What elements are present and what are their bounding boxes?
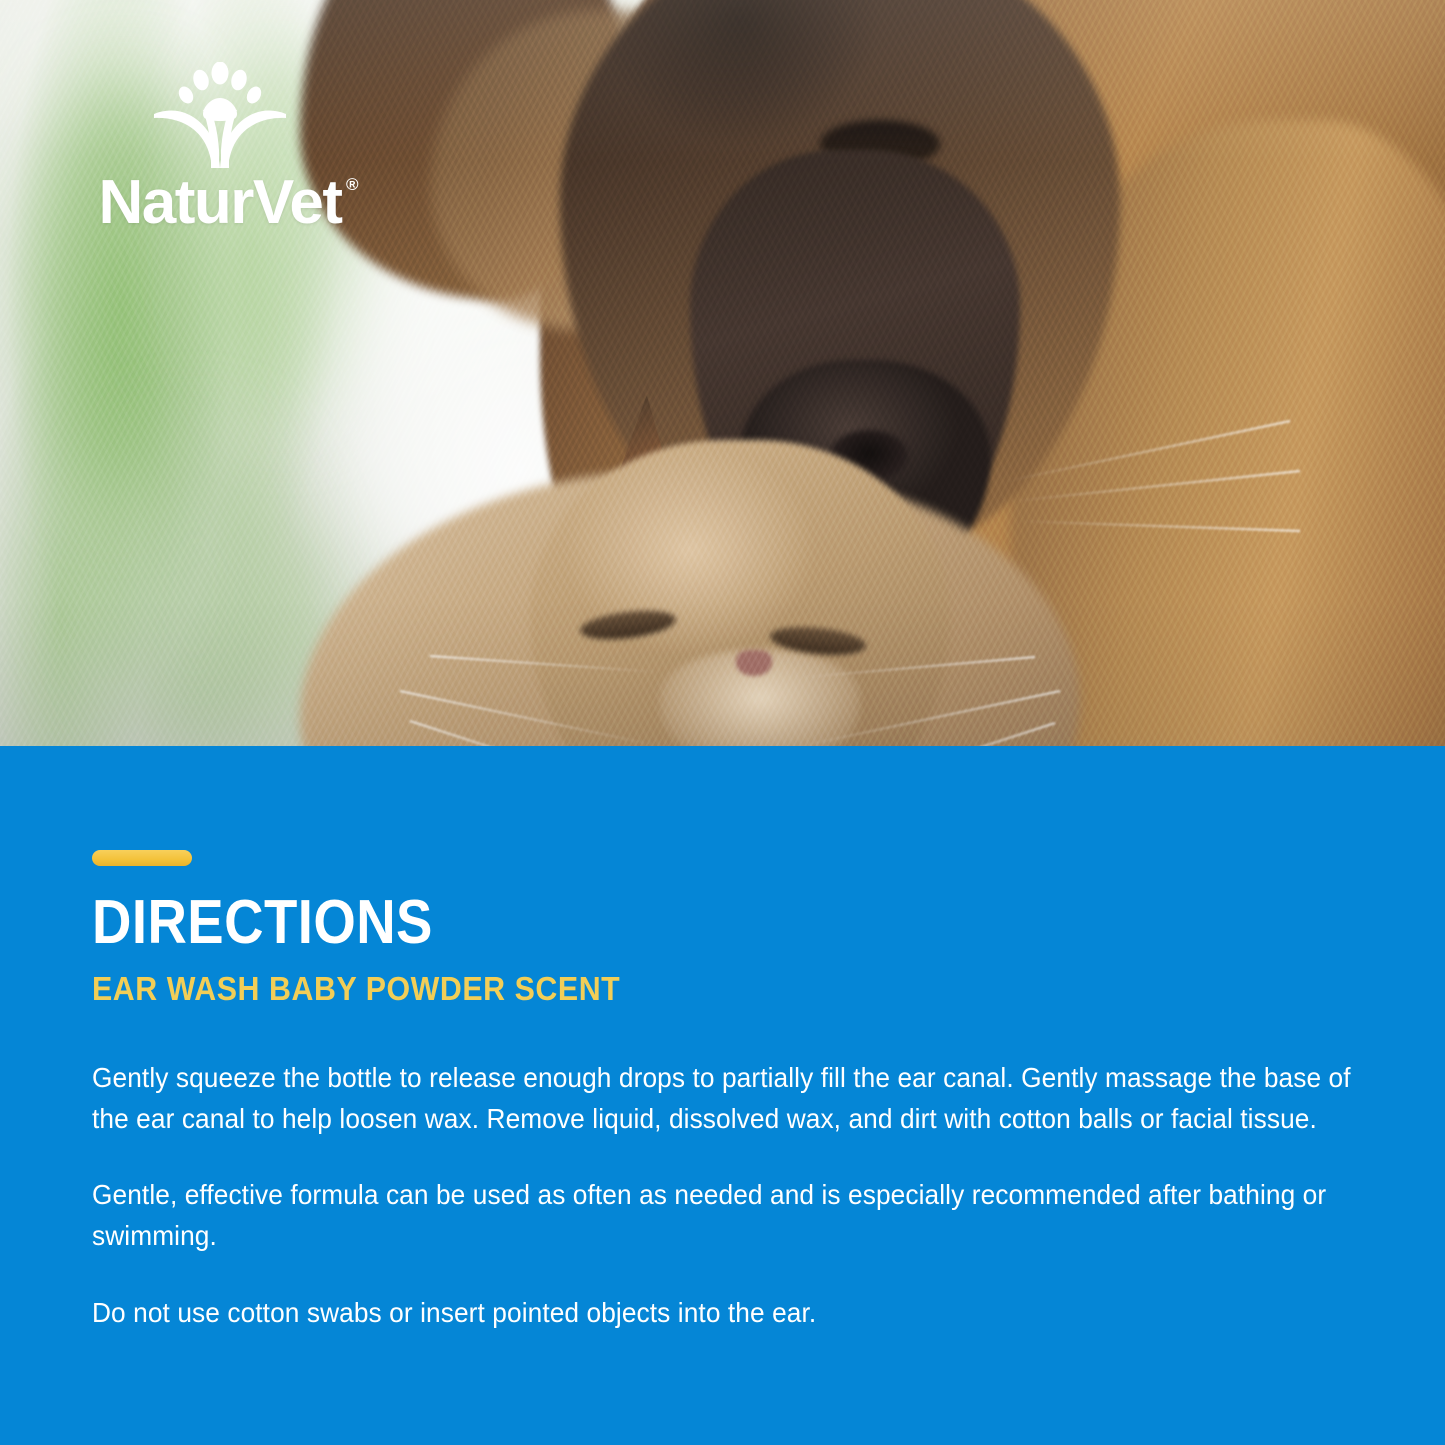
registered-trademark-icon: ® bbox=[346, 176, 359, 193]
directions-section: DIRECTIONS EAR WASH BABY POWDER SCENT Ge… bbox=[0, 746, 1445, 1445]
paw-over-grass-icon bbox=[152, 62, 288, 168]
hero-photo-banner: NaturVet ® bbox=[0, 0, 1445, 746]
naturvet-logo[interactable]: NaturVet ® bbox=[60, 62, 380, 242]
directions-body: Gently squeeze the bottle to release eno… bbox=[92, 1058, 1364, 1333]
logo-wordmark-wrapper: NaturVet ® bbox=[99, 172, 342, 234]
direction-paragraph: Gentle, effective formula can be used as… bbox=[92, 1175, 1364, 1256]
logo-wordmark: NaturVet bbox=[99, 168, 342, 237]
accent-bar bbox=[92, 850, 192, 866]
direction-paragraph: Do not use cotton swabs or insert pointe… bbox=[92, 1293, 1364, 1334]
page-title: DIRECTIONS bbox=[92, 892, 433, 954]
direction-paragraph: Gently squeeze the bottle to release eno… bbox=[92, 1058, 1364, 1139]
product-directions-page: NaturVet ® DIRECTIONS EAR WASH BABY POWD… bbox=[0, 0, 1445, 1445]
product-subtitle: EAR WASH BABY POWDER SCENT bbox=[92, 972, 620, 1005]
